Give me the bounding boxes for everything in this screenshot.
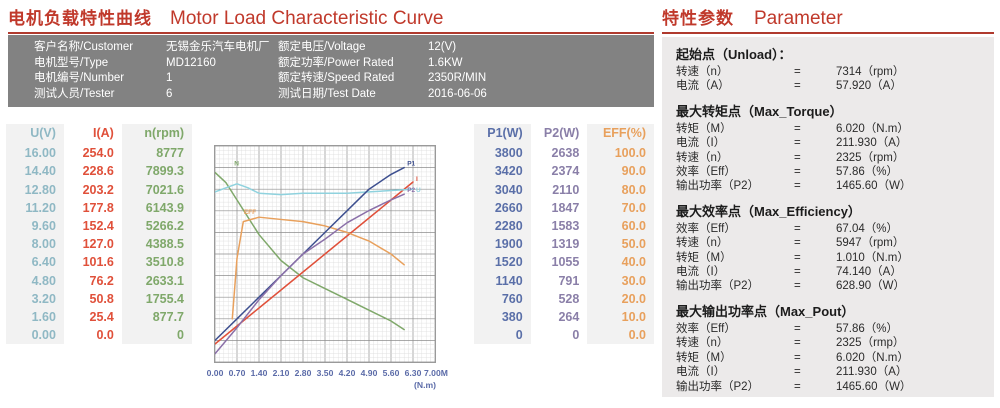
uin-table: U(V)I(A)n(rpm) 16.00254.0877714.40228.67…: [6, 124, 192, 344]
table-cell: 791: [531, 272, 588, 290]
table-row: 38026410.0: [474, 308, 654, 326]
table-cell: 264: [531, 308, 588, 326]
chart-x-tick: 2.80: [292, 368, 314, 378]
table-cell: 0.00: [6, 326, 64, 344]
left-title: 电机负载特性曲线 Motor Load Characteristic Curve: [8, 4, 444, 30]
parameter-group: 起始点（Unload）：转速（n）=7314（rpm）电流（A）=57.920（…: [676, 44, 994, 94]
chart-x-tick: 6.30: [402, 368, 424, 378]
power-eff-table: P1(W)P2(W)EFF(%) 38002638100.03420237490…: [474, 124, 654, 344]
chart-x-tick: 0.00: [204, 368, 226, 378]
parameter-value: 67.04（%）: [836, 222, 994, 236]
info-label-left: 测试人员/Tester: [34, 87, 166, 103]
parameter-label: 转矩（M）: [676, 351, 794, 365]
parameter-equals: =: [794, 279, 836, 293]
column-header: EFF(%): [587, 124, 654, 144]
parameter-label: 效率（Eff）: [676, 322, 794, 336]
parameter-label: 转速（n）: [676, 151, 794, 165]
parameter-value: 7314（rpm）: [836, 65, 994, 79]
parameter-group-heading: 起始点（Unload）：: [676, 44, 994, 63]
parameter-group-heading: 最大效率点（Max_Efficiency）: [676, 201, 994, 220]
parameter-label: 转速（n）: [676, 65, 794, 79]
parameter-equals: =: [794, 151, 836, 165]
table-cell: 80.0: [587, 181, 654, 199]
table-row: 4.8076.22633.1: [6, 272, 192, 290]
parameter-equals: =: [794, 179, 836, 193]
parameter-row: 转矩（M）=6.020（N.m）: [676, 122, 994, 136]
info-label-right: 测试日期/Test Date: [278, 87, 428, 103]
parameter-label: 转速（n）: [676, 236, 794, 250]
chart-x-tick: 7.00M: [424, 368, 446, 378]
parameter-equals: =: [794, 365, 836, 379]
column-header: n(rpm): [122, 124, 192, 144]
info-value-right: 1.6KW: [428, 56, 568, 72]
parameter-group-heading: 最大输出功率点（Max_Pout）: [676, 301, 994, 320]
table-cell: 9.60: [6, 217, 64, 235]
table-row: 6.40101.63510.8: [6, 253, 192, 271]
table-cell: 0.0: [64, 326, 122, 344]
parameter-label: 电流（I）: [676, 365, 794, 379]
table-cell: 528: [531, 290, 588, 308]
parameter-equals: =: [794, 336, 836, 350]
parameter-row: 转速（n）=7314（rpm）: [676, 65, 994, 79]
chart-curve-label-u: U: [416, 187, 421, 194]
info-value-left: 无锡金乐汽车电机厂: [166, 40, 278, 56]
table-cell: 7021.6: [122, 181, 192, 199]
table-cell: 1055: [531, 253, 588, 271]
info-label-left: 客户名称/Customer: [34, 40, 166, 56]
report-page: 电机负载特性曲线 Motor Load Characteristic Curve…: [0, 0, 1000, 408]
motor-info-grid: 客户名称/Customer无锡金乐汽车电机厂额定电压/Voltage12(V)电…: [34, 40, 654, 102]
table-row: 3040211080.0: [474, 181, 654, 199]
table-cell: 1900: [474, 235, 531, 253]
table-cell: 0: [474, 326, 531, 344]
table-row: 11.20177.86143.9: [6, 199, 192, 217]
table-row: 14.40228.67899.3: [6, 162, 192, 180]
info-label-right: 额定转速/Speed Rated: [278, 71, 428, 87]
table-row: 114079130.0: [474, 272, 654, 290]
right-title-en: Parameter: [754, 8, 843, 30]
table-cell: 4388.5: [122, 235, 192, 253]
parameter-label: 电流（A）: [676, 79, 794, 93]
table-row: 8.00127.04388.5: [6, 235, 192, 253]
chart-curve-label-p1: P1: [407, 161, 415, 168]
parameter-row: 电流（I）=211.930（A）: [676, 136, 994, 150]
table-cell: 1140: [474, 272, 531, 290]
table-row: 0.000.00: [6, 326, 192, 344]
table-cell: 2374: [531, 162, 588, 180]
parameter-group: 最大输出功率点（Max_Pout）效率（Eff）=57.86（%）转速（n）=2…: [676, 301, 994, 394]
parameter-value: 2325（rmp）: [836, 336, 994, 350]
parameter-row: 电流（I）=211.930（A）: [676, 365, 994, 379]
parameter-group: 最大效率点（Max_Efficiency）效率（Eff）=67.04（%）转速（…: [676, 201, 994, 294]
table-cell: 40.0: [587, 253, 654, 271]
table-cell: 12.80: [6, 181, 64, 199]
chart-x-axis-unit: (N.m): [414, 380, 436, 390]
table-cell: 1847: [531, 199, 588, 217]
parameter-row: 转速（n）=2325（rpm）: [676, 151, 994, 165]
parameter-label: 电流（I）: [676, 136, 794, 150]
parameter-equals: =: [794, 380, 836, 394]
table-cell: 5266.2: [122, 217, 192, 235]
parameter-value: 57.920（A）: [836, 79, 994, 93]
table-cell: 50.0: [587, 235, 654, 253]
parameter-equals: =: [794, 265, 836, 279]
table-cell: 70.0: [587, 199, 654, 217]
parameter-row: 效率（Eff）=67.04（%）: [676, 222, 994, 236]
table-row: 000.0: [474, 326, 654, 344]
chart-svg: NIUEFFP1P2: [215, 146, 435, 362]
table-cell: 8777: [122, 144, 192, 162]
uin-table-body: 16.00254.0877714.40228.67899.312.80203.2…: [6, 144, 192, 344]
table-cell: 30.0: [587, 272, 654, 290]
table-cell: 3800: [474, 144, 531, 162]
table-cell: 90.0: [587, 162, 654, 180]
table-cell: 2110: [531, 181, 588, 199]
table-cell: 11.20: [6, 199, 64, 217]
parameter-equals: =: [794, 351, 836, 365]
parameter-row: 转矩（M）=6.020（N.m）: [676, 351, 994, 365]
chart-curve-label-n: N: [234, 161, 239, 168]
table-cell: 1755.4: [122, 290, 192, 308]
parameter-group: 最大转矩点（Max_Torque）转矩（M）=6.020（N.m）电流（I）=2…: [676, 101, 994, 194]
info-value-left: 6: [166, 87, 278, 103]
table-cell: 101.6: [64, 253, 122, 271]
characteristic-curve-chart: NIUEFFP1P2 0.000.701.402.102.803.504.204…: [200, 130, 466, 400]
parameter-label: 转速（n）: [676, 336, 794, 350]
table-cell: 8.00: [6, 235, 64, 253]
table-cell: 100.0: [587, 144, 654, 162]
info-value-left: 1: [166, 71, 278, 87]
parameter-value: 57.86（%）: [836, 165, 994, 179]
column-header: U(V): [6, 124, 64, 144]
table-cell: 2660: [474, 199, 531, 217]
table-cell: 254.0: [64, 144, 122, 162]
table-row: 12.80203.27021.6: [6, 181, 192, 199]
chart-plot-area: NIUEFFP1P2: [214, 145, 436, 363]
chart-curve-label-eff: EFF: [244, 209, 256, 216]
parameter-row: 输出功率（P2）=1465.60（W）: [676, 380, 994, 394]
table-cell: 0: [122, 326, 192, 344]
motor-info-box: 客户名称/Customer无锡金乐汽车电机厂额定电压/Voltage12(V)电…: [8, 35, 654, 107]
table-cell: 2633.1: [122, 272, 192, 290]
parameter-equals: =: [794, 165, 836, 179]
table-cell: 1583: [531, 217, 588, 235]
table-row: 2280158360.0: [474, 217, 654, 235]
table-row: 1900131950.0: [474, 235, 654, 253]
table-row: 3.2050.81755.4: [6, 290, 192, 308]
power-eff-data-table: P1(W)P2(W)EFF(%) 38002638100.03420237490…: [474, 124, 654, 344]
parameter-row: 效率（Eff）=57.86（%）: [676, 165, 994, 179]
table-row: 76052820.0: [474, 290, 654, 308]
power-eff-table-header-row: P1(W)P2(W)EFF(%): [474, 124, 654, 144]
table-cell: 3510.8: [122, 253, 192, 271]
table-cell: 2280: [474, 217, 531, 235]
parameter-equals: =: [794, 222, 836, 236]
table-cell: 16.00: [6, 144, 64, 162]
parameter-row: 电流（I）=74.140（A）: [676, 265, 994, 279]
table-cell: 4.80: [6, 272, 64, 290]
parameter-label: 效率（Eff）: [676, 165, 794, 179]
table-cell: 20.0: [587, 290, 654, 308]
table-cell: 76.2: [64, 272, 122, 290]
parameter-row: 转矩（M）=1.010（N.m）: [676, 251, 994, 265]
parameter-value: 2325（rpm）: [836, 151, 994, 165]
parameter-row: 输出功率（P2）=1465.60（W）: [676, 179, 994, 193]
parameter-equals: =: [794, 322, 836, 336]
table-cell: 0.0: [587, 326, 654, 344]
info-value-right: 2350R/MIN: [428, 71, 568, 87]
parameter-label: 输出功率（P2）: [676, 179, 794, 193]
parameter-label: 转矩（M）: [676, 122, 794, 136]
uin-data-table: U(V)I(A)n(rpm) 16.00254.0877714.40228.67…: [6, 124, 192, 344]
parameter-panel: 起始点（Unload）：转速（n）=7314（rpm）电流（A）=57.920（…: [662, 37, 994, 397]
parameter-groups: 起始点（Unload）：转速（n）=7314（rpm）电流（A）=57.920（…: [676, 44, 994, 394]
chart-x-tick: 1.40: [248, 368, 270, 378]
table-row: 9.60152.45266.2: [6, 217, 192, 235]
info-value-left: MD12160: [166, 56, 278, 72]
info-value-right: 2016-06-06: [428, 87, 568, 103]
table-cell: 50.8: [64, 290, 122, 308]
table-cell: 1.60: [6, 308, 64, 326]
parameter-value: 1465.60（W）: [836, 380, 994, 394]
chart-x-tick: 4.20: [336, 368, 358, 378]
info-label-left: 电机编号/Number: [34, 71, 166, 87]
table-cell: 203.2: [64, 181, 122, 199]
right-title: 特性参数 Parameter: [662, 4, 843, 30]
chart-x-tick: 5.60: [380, 368, 402, 378]
table-cell: 1520: [474, 253, 531, 271]
right-title-cn: 特性参数: [662, 4, 734, 29]
table-cell: 6.40: [6, 253, 64, 271]
table-row: 38002638100.0: [474, 144, 654, 162]
table-row: 2660184770.0: [474, 199, 654, 217]
chart-series-p2: [215, 194, 404, 354]
parameter-equals: =: [794, 236, 836, 250]
parameter-value: 211.930（A）: [836, 136, 994, 150]
table-row: 1.6025.4877.7: [6, 308, 192, 326]
parameter-value: 1465.60（W）: [836, 179, 994, 193]
chart-x-tick: 3.50: [314, 368, 336, 378]
table-cell: 25.4: [64, 308, 122, 326]
info-label-left: 电机型号/Type: [34, 56, 166, 72]
table-cell: 3040: [474, 181, 531, 199]
info-label-right: 额定电压/Voltage: [278, 40, 428, 56]
chart-curve-label-p2: P2: [407, 187, 415, 194]
parameter-equals: =: [794, 251, 836, 265]
column-header: I(A): [64, 124, 122, 144]
parameter-row: 电流（A）=57.920（A）: [676, 79, 994, 93]
parameter-label: 输出功率（P2）: [676, 380, 794, 394]
parameter-value: 1.010（N.m）: [836, 251, 994, 265]
table-cell: 14.40: [6, 162, 64, 180]
parameter-row: 输出功率（P2）=628.90（W）: [676, 279, 994, 293]
column-header: P1(W): [474, 124, 531, 144]
parameter-equals: =: [794, 122, 836, 136]
parameter-value: 628.90（W）: [836, 279, 994, 293]
parameter-label: 转矩（M）: [676, 251, 794, 265]
left-title-cn: 电机负载特性曲线: [8, 4, 152, 29]
table-cell: 127.0: [64, 235, 122, 253]
parameter-value: 6.020（N.m）: [836, 351, 994, 365]
parameter-value: 57.86（%）: [836, 322, 994, 336]
table-cell: 152.4: [64, 217, 122, 235]
parameter-value: 74.140（A）: [836, 265, 994, 279]
parameter-label: 效率（Eff）: [676, 222, 794, 236]
table-cell: 760: [474, 290, 531, 308]
parameter-label: 输出功率（P2）: [676, 279, 794, 293]
parameter-row: 转速（n）=5947（rpm）: [676, 236, 994, 250]
column-header: P2(W): [531, 124, 588, 144]
chart-curve-label-i: I: [416, 176, 418, 183]
table-cell: 60.0: [587, 217, 654, 235]
table-cell: 3420: [474, 162, 531, 180]
parameter-equals: =: [794, 79, 836, 93]
parameter-row: 效率（Eff）=57.86（%）: [676, 322, 994, 336]
parameter-group-heading: 最大转矩点（Max_Torque）: [676, 101, 994, 120]
table-cell: 6143.9: [122, 199, 192, 217]
parameter-label: 电流（I）: [676, 265, 794, 279]
chart-x-tick: 4.90: [358, 368, 380, 378]
table-cell: 3.20: [6, 290, 64, 308]
info-value-right: 12(V): [428, 40, 568, 56]
uin-table-header-row: U(V)I(A)n(rpm): [6, 124, 192, 144]
table-cell: 2638: [531, 144, 588, 162]
table-row: 16.00254.08777: [6, 144, 192, 162]
chart-x-axis-labels: 0.000.701.402.102.803.504.204.905.606.30…: [200, 368, 462, 378]
table-cell: 7899.3: [122, 162, 192, 180]
table-row: 3420237490.0: [474, 162, 654, 180]
table-cell: 177.8: [64, 199, 122, 217]
power-eff-table-body: 38002638100.03420237490.03040211080.0266…: [474, 144, 654, 344]
parameter-row: 转速（n）=2325（rmp）: [676, 336, 994, 350]
parameter-value: 5947（rpm）: [836, 236, 994, 250]
table-cell: 10.0: [587, 308, 654, 326]
chart-x-tick: 2.10: [270, 368, 292, 378]
table-cell: 1319: [531, 235, 588, 253]
left-title-divider: [8, 32, 654, 34]
info-label-right: 额定功率/Power Rated: [278, 56, 428, 72]
table-cell: 228.6: [64, 162, 122, 180]
parameter-value: 6.020（N.m）: [836, 122, 994, 136]
parameter-equals: =: [794, 136, 836, 150]
table-cell: 877.7: [122, 308, 192, 326]
table-cell: 380: [474, 308, 531, 326]
table-row: 1520105540.0: [474, 253, 654, 271]
table-cell: 0: [531, 326, 588, 344]
left-title-en: Motor Load Characteristic Curve: [170, 8, 444, 30]
right-title-divider: [662, 32, 994, 34]
chart-x-tick: 0.70: [226, 368, 248, 378]
parameter-equals: =: [794, 65, 836, 79]
parameter-value: 211.930（A）: [836, 365, 994, 379]
